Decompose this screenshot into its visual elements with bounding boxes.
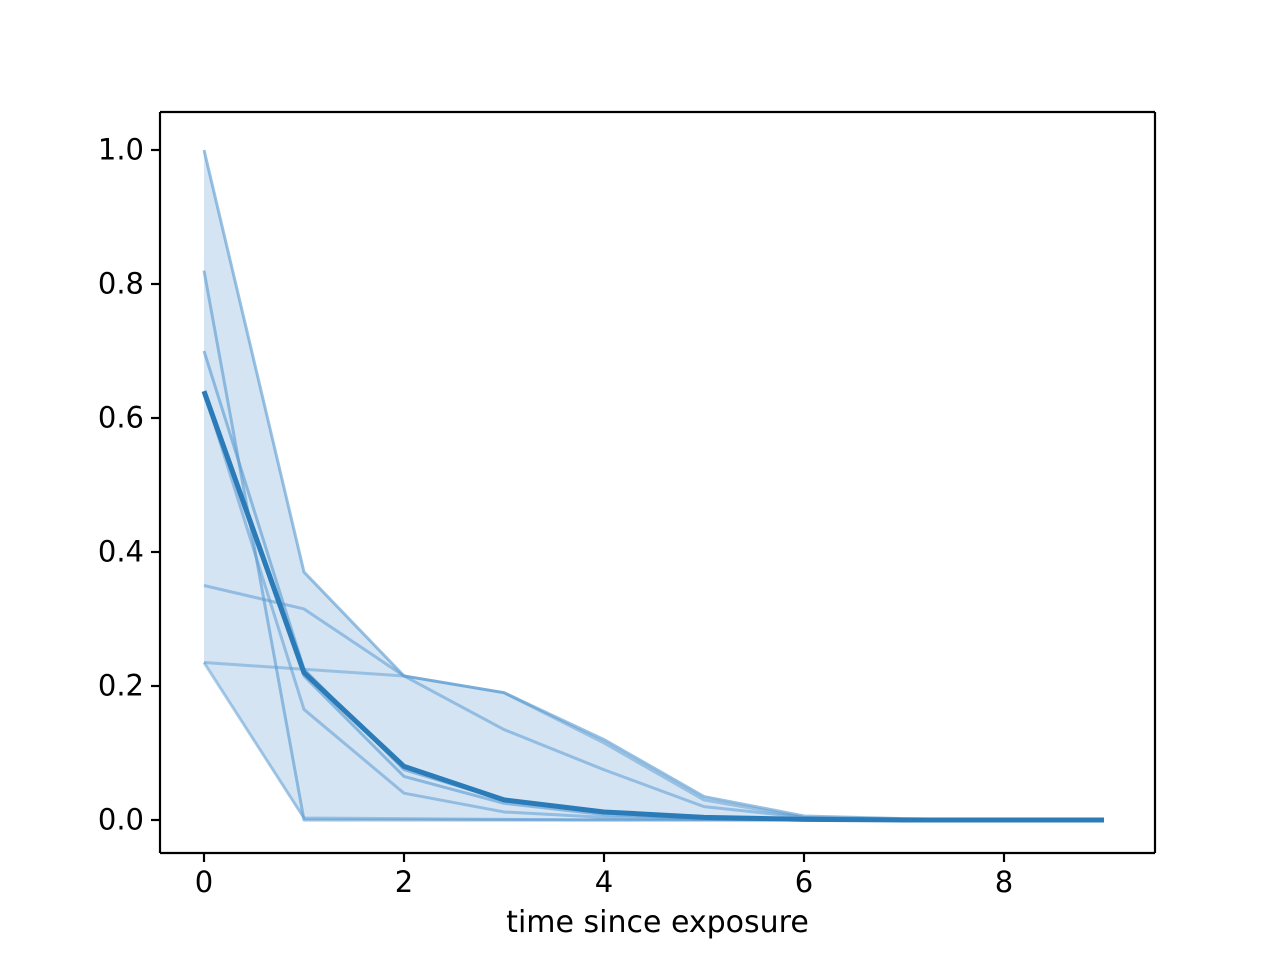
x-axis-label: time since exposure bbox=[506, 905, 809, 940]
x-tick-label: 8 bbox=[995, 868, 1013, 897]
y-tick-label: 1.0 bbox=[98, 136, 144, 165]
confidence-band bbox=[204, 150, 1104, 820]
matplotlib-figure: 0.00.20.40.60.81.0 02468 time since expo… bbox=[0, 0, 1280, 960]
y-tick-label: 0.8 bbox=[98, 270, 144, 299]
x-tick-label: 2 bbox=[395, 868, 413, 897]
y-tick-label: 0.4 bbox=[98, 538, 144, 567]
x-tick-label: 0 bbox=[195, 868, 213, 897]
x-tick-label: 6 bbox=[795, 868, 813, 897]
y-tick-label: 0.2 bbox=[98, 672, 144, 701]
y-tick-label: 0.6 bbox=[98, 404, 144, 433]
y-tick-label: 0.0 bbox=[98, 806, 144, 835]
x-tick-label: 4 bbox=[595, 868, 613, 897]
plot-canvas bbox=[0, 0, 1280, 960]
band-polygon bbox=[204, 150, 1104, 820]
